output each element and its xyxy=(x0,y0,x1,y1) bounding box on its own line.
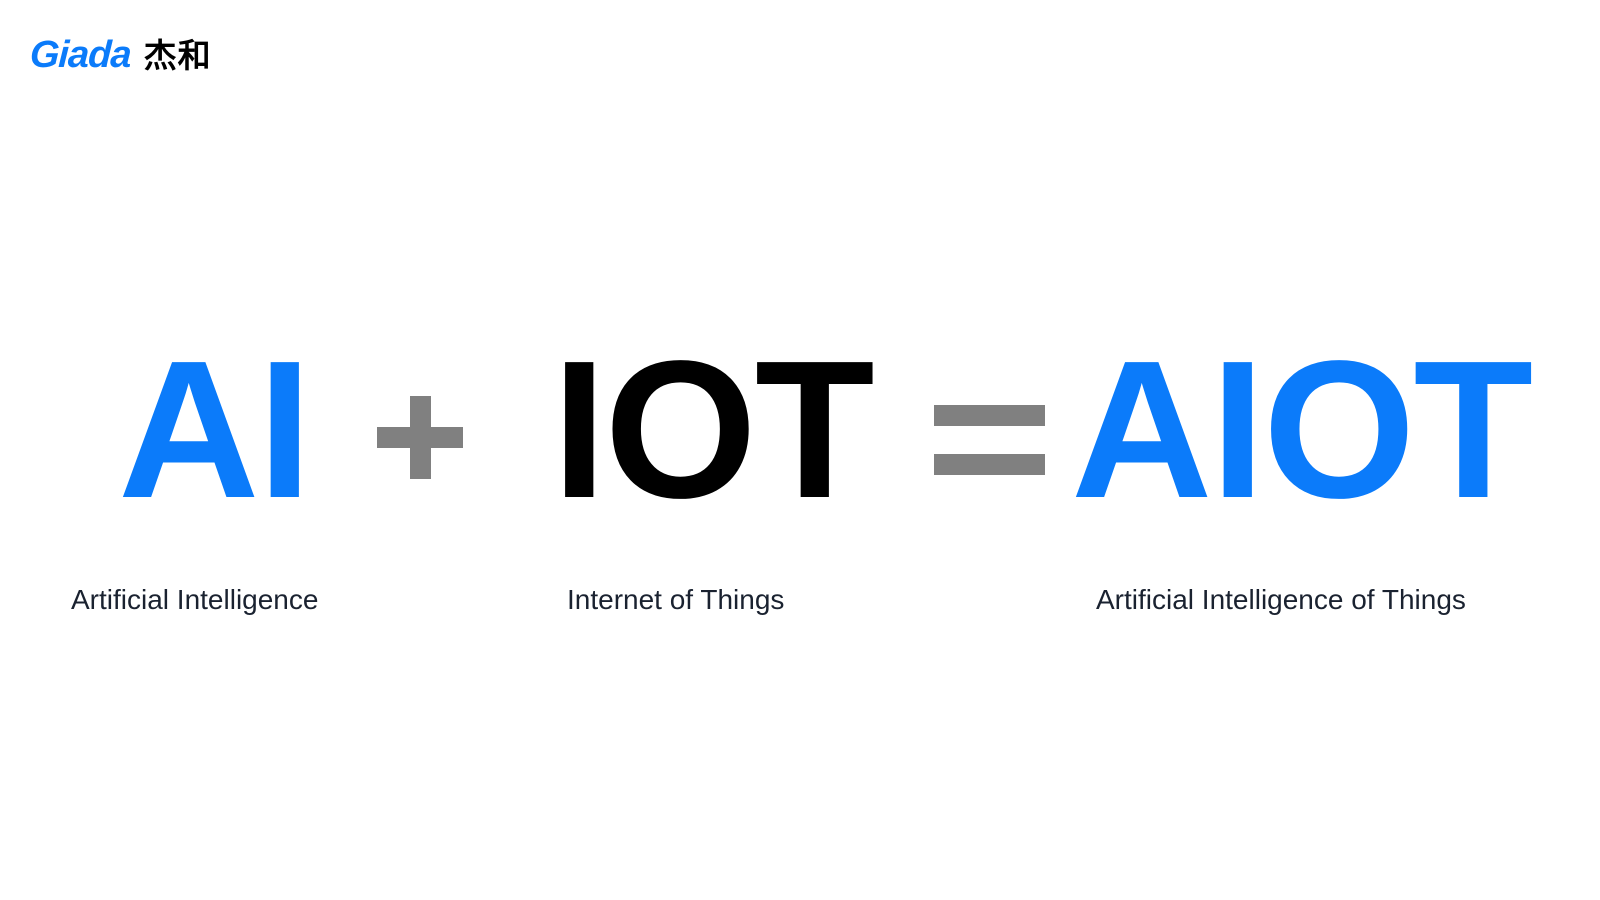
equation-term-ai: AI xyxy=(118,330,310,530)
equals-bottom-bar xyxy=(934,454,1045,475)
brand-wordmark: Giada xyxy=(29,36,132,74)
equals-top-bar xyxy=(934,405,1045,426)
equation-row: AI IOT AIOT xyxy=(0,330,1600,530)
caption-artificial-intelligence: Artificial Intelligence xyxy=(71,583,318,617)
caption-artificial-intelligence-of-things: Artificial Intelligence of Things xyxy=(1096,583,1466,617)
caption-internet-of-things: Internet of Things xyxy=(567,583,784,617)
plus-operator-icon xyxy=(377,396,463,479)
equation-term-iot: IOT xyxy=(552,330,873,530)
plus-vertical-bar xyxy=(410,396,431,479)
equals-operator-icon xyxy=(934,405,1045,475)
caption-row: Artificial Intelligence Internet of Thin… xyxy=(0,583,1600,623)
brand-logo: Giada 杰和 xyxy=(30,36,212,74)
equation-term-aiot: AIOT xyxy=(1071,330,1531,530)
slide-canvas: { "brand": { "wordmark": "Giada", "cjk_n… xyxy=(0,0,1600,900)
brand-cjk-name: 杰和 xyxy=(144,39,212,72)
